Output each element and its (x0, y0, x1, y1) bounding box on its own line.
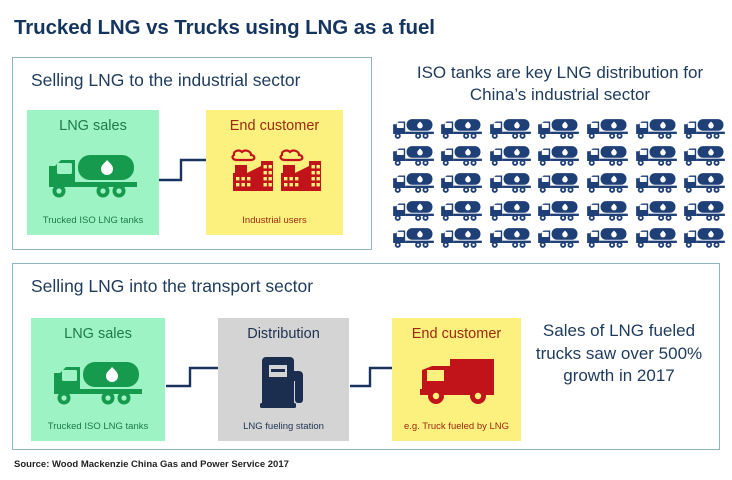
blue-lng-tanker-truck-icon (632, 114, 681, 141)
blue-lng-tanker-truck-icon (583, 141, 632, 168)
green-lng-tanker-truck-icon (27, 146, 159, 200)
blue-lng-tanker-truck-icon (680, 223, 729, 250)
card-caption: Trucked ISO LNG tanks (27, 215, 159, 226)
card-title: LNG sales (31, 326, 165, 342)
blue-lng-tanker-truck-icon (583, 114, 632, 141)
blue-lng-tanker-truck-icon (632, 196, 681, 223)
blue-lng-tanker-truck-icon (583, 168, 632, 195)
connector-distribution-to-customer (350, 358, 394, 396)
blue-lng-tanker-truck-icon (535, 141, 584, 168)
card-title: Distribution (218, 326, 349, 342)
page-title: Trucked LNG vs Trucks using LNG as a fue… (14, 16, 435, 40)
card-caption: Industrial users (206, 215, 343, 226)
card-distribution[interactable]: Distribution LNG fueling station (218, 318, 349, 441)
source-note: Source: Wood Mackenzie China Gas and Pow… (14, 459, 289, 470)
blue-lng-tanker-truck-icon (389, 168, 438, 195)
blue-lng-tanker-truck-icon (583, 223, 632, 250)
panel-industrial-heading: Selling LNG to the industrial sector (31, 70, 300, 91)
blue-lng-tanker-truck-icon (680, 168, 729, 195)
blue-lng-tanker-truck-icon (632, 223, 681, 250)
card-title: LNG sales (27, 118, 159, 134)
green-lng-tanker-truck-icon (31, 353, 165, 407)
blue-lng-tanker-truck-icon (535, 114, 584, 141)
blue-lng-tanker-truck-icon (486, 196, 535, 223)
connector-industrial (159, 150, 209, 190)
blue-lng-tanker-truck-icon (438, 196, 487, 223)
blue-lng-tanker-truck-icon (389, 196, 438, 223)
blue-lng-tanker-truck-icon (486, 168, 535, 195)
card-title: End customer (206, 118, 343, 134)
iso-tanks-heading: ISO tanks are key LNG distribution for C… (392, 62, 728, 106)
blue-lng-tanker-truck-icon (680, 114, 729, 141)
blue-lng-tanker-truck-icon (680, 196, 729, 223)
blue-lng-tanker-truck-icon (438, 223, 487, 250)
growth-callout: Sales of LNG fueled trucks saw over 500%… (526, 320, 712, 388)
blue-lng-tanker-truck-icon (389, 141, 438, 168)
card-caption: e.g. Truck fueled by LNG (392, 421, 521, 432)
blue-lng-tanker-truck-icon (535, 196, 584, 223)
card-lng-sales-transport[interactable]: LNG sales Trucked ISO LNG tanks (31, 318, 165, 441)
red-factory-icon (206, 143, 343, 203)
blue-lng-tanker-truck-icon (535, 223, 584, 250)
connector-sales-to-distribution (166, 358, 218, 396)
blue-lng-tanker-truck-icon (438, 168, 487, 195)
card-end-customer-transport[interactable]: End customer e.g. Truck fueled by LNG (392, 318, 521, 441)
fuel-pump-icon (218, 349, 349, 411)
red-box-truck-icon (392, 354, 521, 406)
card-caption: LNG fueling station (218, 421, 349, 432)
blue-lng-tanker-truck-icon (486, 223, 535, 250)
blue-lng-tanker-truck-icon (438, 114, 487, 141)
card-end-customer-industrial[interactable]: End customer (206, 110, 343, 235)
blue-lng-tanker-truck-icon (486, 141, 535, 168)
blue-lng-tanker-truck-icon (438, 141, 487, 168)
blue-lng-tanker-truck-icon (389, 223, 438, 250)
card-caption: Trucked ISO LNG tanks (31, 421, 165, 432)
blue-lng-tanker-truck-icon (389, 114, 438, 141)
card-lng-sales-industrial[interactable]: LNG sales Trucked ISO LNG tanks (27, 110, 159, 235)
blue-lng-tanker-truck-icon (583, 196, 632, 223)
iso-tanks-truck-grid (389, 114, 729, 250)
card-title: End customer (392, 326, 521, 342)
blue-lng-tanker-truck-icon (632, 141, 681, 168)
panel-transport-heading: Selling LNG into the transport sector (31, 276, 313, 297)
blue-lng-tanker-truck-icon (680, 141, 729, 168)
blue-lng-tanker-truck-icon (486, 114, 535, 141)
blue-lng-tanker-truck-icon (632, 168, 681, 195)
blue-lng-tanker-truck-icon (535, 168, 584, 195)
